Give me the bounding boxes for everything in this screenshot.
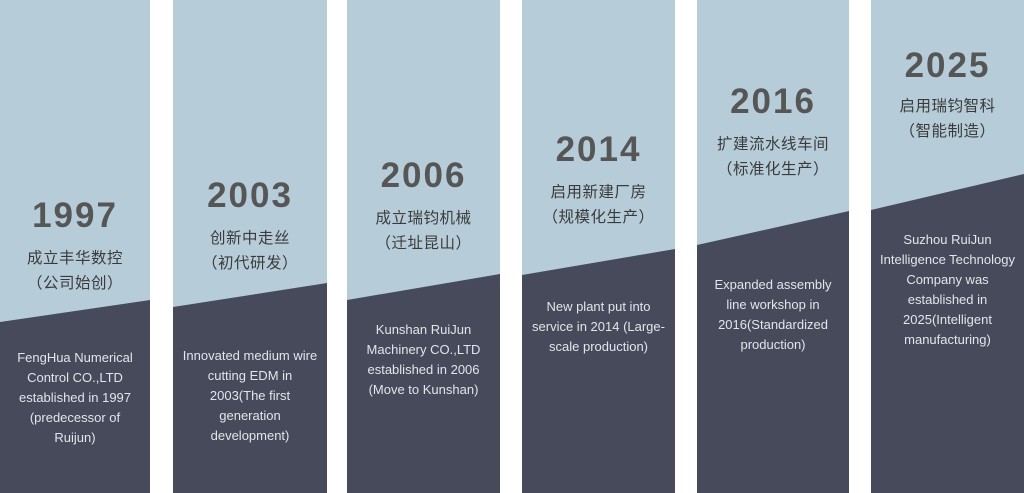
- year-label-1997: 1997: [0, 198, 150, 233]
- year-label-2014: 2014: [522, 132, 675, 167]
- en-description-2025: Suzhou RuiJun Intelligence Technology Co…: [871, 230, 1024, 350]
- cn-title-2006: 成立瑞钧机械: [347, 206, 500, 231]
- cn-subtitle-2003: （初代研发）: [173, 251, 327, 276]
- cn-title-2003: 创新中走丝: [173, 226, 327, 251]
- timeline-column-2003: 2003 创新中走丝 （初代研发） Innovated medium wire …: [173, 0, 327, 493]
- cn-subtitle-2014: （规模化生产）: [522, 205, 675, 230]
- timeline-column-2016: 2016 扩建流水线车间 （标准化生产） Expanded assembly l…: [697, 0, 849, 493]
- cn-title-2016: 扩建流水线车间: [697, 132, 849, 157]
- cn-title-1997: 成立丰华数控: [0, 246, 150, 271]
- timeline-column-2025: 2025 启用瑞钧智科 （智能制造） Suzhou RuiJun Intelli…: [871, 0, 1024, 493]
- en-description-1997: FengHua Numerical Control CO.,LTD establ…: [0, 348, 150, 448]
- cn-subtitle-2016: （标准化生产）: [697, 157, 849, 182]
- year-label-2003: 2003: [173, 178, 327, 213]
- cn-subtitle-2025: （智能制造）: [871, 119, 1024, 144]
- en-description-2014: New plant put into service in 2014 (Larg…: [522, 297, 675, 357]
- cn-title-2014: 启用新建厂房: [522, 180, 675, 205]
- year-label-2016: 2016: [697, 84, 849, 119]
- cn-subtitle-2006: （迁址昆山）: [347, 231, 500, 256]
- cn-subtitle-1997: （公司始创）: [0, 271, 150, 296]
- cn-title-2025: 启用瑞钧智科: [871, 94, 1024, 119]
- en-description-2016: Expanded assembly line workshop in 2016(…: [697, 275, 849, 355]
- timeline-column-1997: 1997 成立丰华数控 （公司始创） FengHua Numerical Con…: [0, 0, 150, 493]
- year-label-2006: 2006: [347, 158, 500, 193]
- year-label-2025: 2025: [871, 48, 1024, 83]
- history-timeline-infographic: 1997 成立丰华数控 （公司始创） FengHua Numerical Con…: [0, 0, 1024, 493]
- en-description-2006: Kunshan RuiJun Machinery CO.,LTD establi…: [347, 320, 500, 400]
- timeline-column-2014: 2014 启用新建厂房 （规模化生产） New plant put into s…: [522, 0, 675, 493]
- timeline-column-2006: 2006 成立瑞钧机械 （迁址昆山） Kunshan RuiJun Machin…: [347, 0, 500, 493]
- en-description-2003: Innovated medium wire cutting EDM in 200…: [173, 346, 327, 446]
